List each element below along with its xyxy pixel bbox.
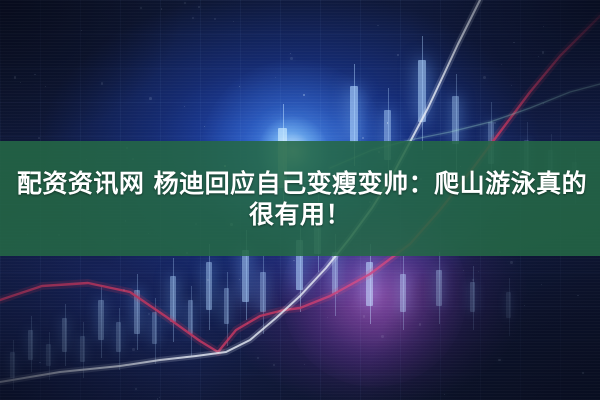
sparkle-dot bbox=[140, 7, 142, 9]
sparkle-dot bbox=[257, 357, 259, 359]
sparkle-dot bbox=[577, 295, 578, 296]
sparkle-dot bbox=[510, 261, 513, 264]
sparkle-dot bbox=[184, 2, 186, 4]
sparkle-dot bbox=[362, 137, 364, 139]
sparkle-dot bbox=[483, 76, 486, 79]
sparkle-dot bbox=[444, 394, 445, 395]
sparkle-dot bbox=[132, 348, 135, 351]
sparkle-dot bbox=[247, 323, 248, 324]
sparkle-dot bbox=[290, 57, 293, 60]
title-line-1: 配资资讯网 杨迪回应自己变瘦变帅：爬山游泳真的 bbox=[13, 168, 587, 199]
banner-image: 配资资讯网 杨迪回应自己变瘦变帅：爬山游泳真的 很有用！ bbox=[0, 0, 600, 400]
sparkle-dot bbox=[273, 364, 275, 366]
sparkle-dot bbox=[542, 51, 545, 54]
title-band: 配资资讯网 杨迪回应自己变瘦变帅：爬山游泳真的 很有用！ bbox=[0, 141, 600, 256]
sparkle-dot bbox=[45, 86, 46, 87]
sparkle-dot bbox=[463, 270, 464, 271]
sparkle-dot bbox=[327, 317, 328, 318]
sparkle-dot bbox=[381, 335, 383, 337]
title-line-2: 很有用！ bbox=[249, 199, 351, 230]
sparkle-dot bbox=[81, 30, 82, 31]
sparkle-dot bbox=[192, 17, 194, 19]
sparkle-dot bbox=[498, 359, 500, 361]
sparkle-dot bbox=[198, 6, 200, 8]
sparkle-dot bbox=[149, 97, 152, 100]
sparkle-dot bbox=[501, 64, 502, 65]
sparkle-dot bbox=[511, 85, 512, 86]
sparkle-dot bbox=[207, 279, 209, 281]
sparkle-dot bbox=[239, 86, 240, 87]
sparkle-dot bbox=[159, 397, 160, 398]
sparkle-dot bbox=[123, 289, 124, 290]
sparkle-dot bbox=[494, 122, 496, 124]
